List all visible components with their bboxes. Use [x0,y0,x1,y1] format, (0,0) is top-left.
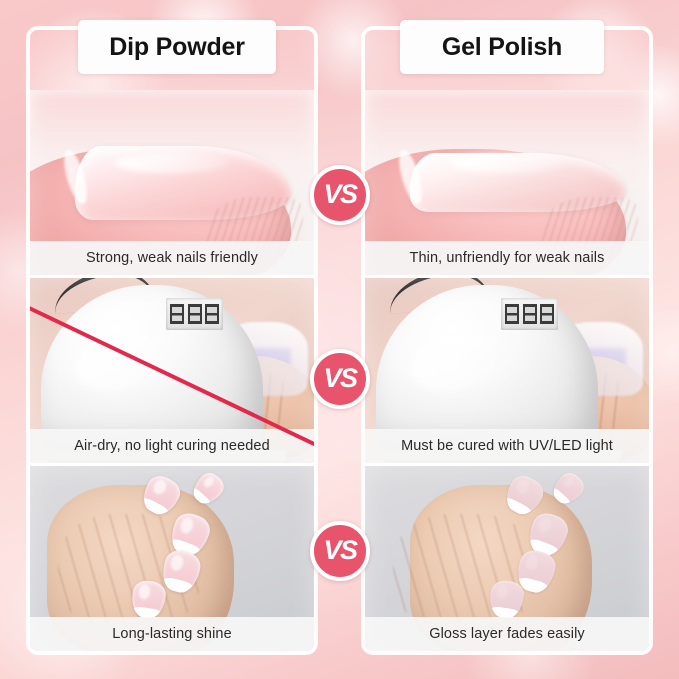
caption-right-curing: Must be cured with UV/LED light [365,429,649,463]
panel-right-curing: Must be cured with UV/LED light [365,275,649,463]
vs-badge-label: VS [323,537,356,564]
panel-left-curing: Air-dry, no light curing needed [30,275,314,463]
lamp-timer-display [501,298,558,329]
vs-badge-label: VS [323,181,356,208]
panel-right-shine: Gloss layer fades easily [365,463,649,651]
lamp-timer-display [166,298,223,329]
panel-left-shine: Long-lasting shine [30,463,314,651]
header-dip-powder: Dip Powder [78,20,276,74]
panel-left-nail-strength: Strong, weak nails friendly [30,90,314,275]
comparison-infographic: Strong, weak nails friendly [0,0,679,679]
header-gel-polish: Gel Polish [400,20,604,74]
vs-badge-row-3: VS [310,521,370,581]
caption-right-shine: Gloss layer fades easily [365,617,649,651]
fingernail [130,579,167,620]
column-dip-powder: Strong, weak nails friendly [26,26,318,655]
caption-left-curing: Air-dry, no light curing needed [30,429,314,463]
caption-right-nail-strength: Thin, unfriendly for weak nails [365,241,649,275]
column-gel-polish: Thin, unfriendly for weak nails [361,26,653,655]
caption-left-nail-strength: Strong, weak nails friendly [30,241,314,275]
caption-left-shine: Long-lasting shine [30,617,314,651]
panel-right-nail-strength: Thin, unfriendly for weak nails [365,90,649,275]
vs-badge-label: VS [323,365,356,392]
vs-badge-row-1: VS [310,165,370,225]
fingernail [488,579,525,620]
vs-badge-row-2: VS [310,349,370,409]
